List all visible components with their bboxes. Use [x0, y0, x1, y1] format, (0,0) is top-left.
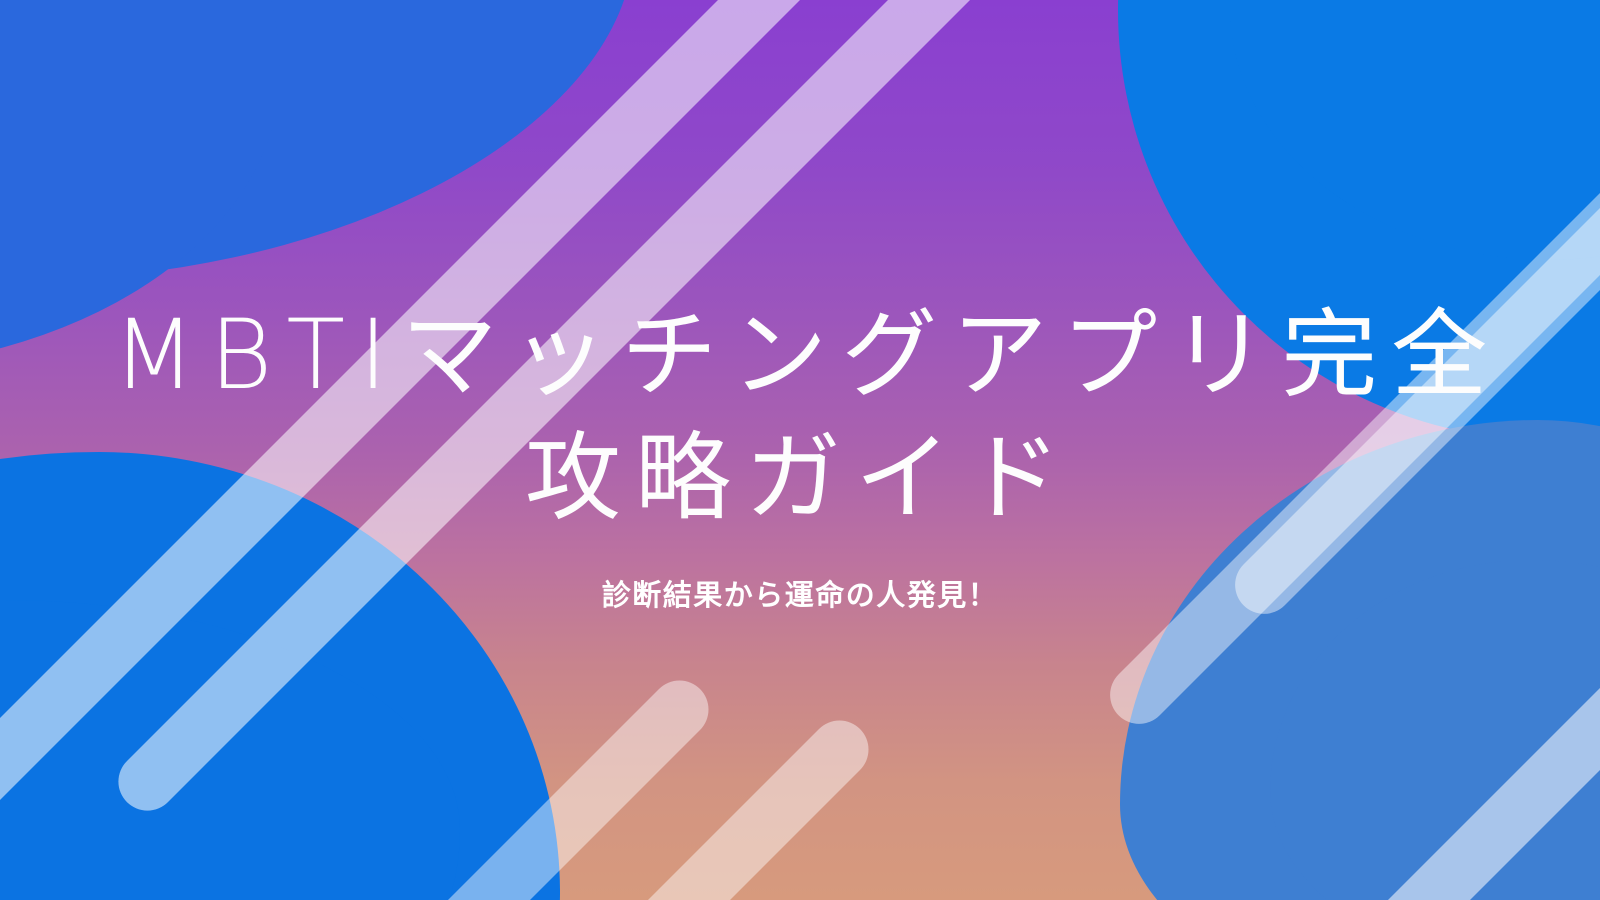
poster-subtitle: 診断結果から運命の人発見！ — [602, 572, 999, 614]
poster-headline: MBTIマッチングアプリ完全攻略ガイド — [70, 294, 1530, 540]
poster-text-block: MBTIマッチングアプリ完全攻略ガイド 診断結果から運命の人発見！ — [0, 0, 1600, 900]
poster-canvas: MBTIマッチングアプリ完全攻略ガイド 診断結果から運命の人発見！ — [0, 0, 1600, 900]
